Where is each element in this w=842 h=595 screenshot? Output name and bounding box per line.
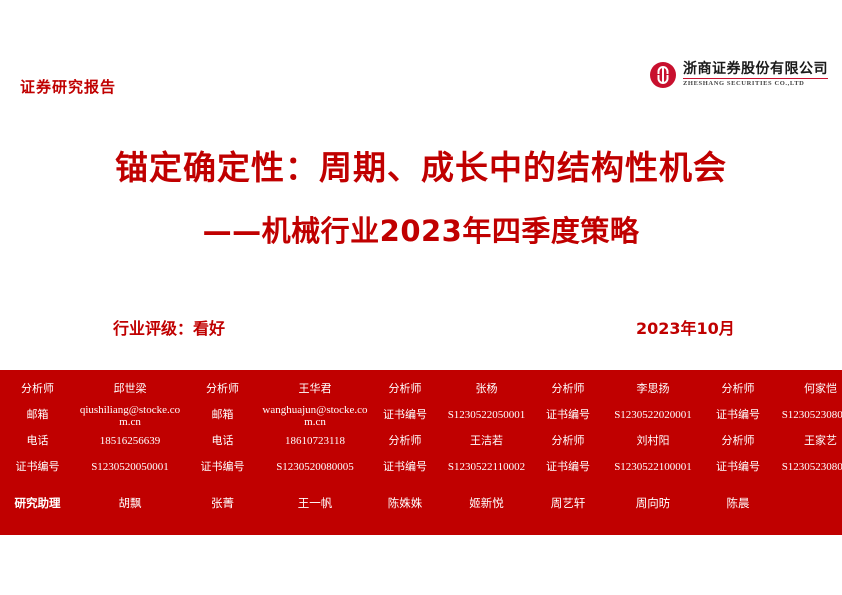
analyst-field-label: 分析师: [703, 428, 773, 454]
analyst-field-label: 证书编号: [703, 402, 773, 428]
analyst-field-value: S1230522100001: [603, 454, 703, 480]
analyst-field-label: 证书编号: [370, 454, 440, 480]
analyst-field-label: 证书编号: [185, 454, 260, 480]
analyst-field-value: 18516256639: [75, 428, 185, 454]
analyst-field-value: S1230522110002: [440, 454, 533, 480]
brand-name-en: ZHESHANG SECURITIES CO.,LTD: [683, 81, 828, 88]
analyst-field-label: 证书编号: [370, 402, 440, 428]
assistants-row-filler: [773, 492, 842, 516]
research-assistant-name: 胡飘: [75, 492, 185, 516]
analyst-field-value: S1230522050001: [440, 402, 533, 428]
industry-rating: 行业评级：看好: [113, 315, 225, 339]
analyst-field-value: 邱世梁: [75, 376, 185, 402]
analyst-field-label: 证书编号: [703, 454, 773, 480]
analyst-field-label: 分析师: [533, 376, 603, 402]
analyst-field-label: 电话: [0, 428, 75, 454]
analyst-field-value: 李思扬: [603, 376, 703, 402]
analyst-field-value: 王洁若: [440, 428, 533, 454]
analyst-field-value: 王家艺: [773, 428, 842, 454]
page-subtitle: ——机械行业2023年四季度策略: [0, 208, 842, 250]
analyst-field-label: 分析师: [703, 376, 773, 402]
analyst-field-value: S1230523080007: [773, 402, 842, 428]
research-assistant-name: 周向昉: [603, 492, 703, 516]
research-assistant-name: 陈晨: [703, 492, 773, 516]
analyst-field-label: 电话: [185, 428, 260, 454]
analyst-field-label: 邮箱: [185, 402, 260, 428]
analyst-field-label: 证书编号: [533, 454, 603, 480]
analyst-field-label: 分析师: [370, 428, 440, 454]
analyst-field-label: 分析师: [185, 376, 260, 402]
report-kicker: 证券研究报告: [20, 76, 116, 97]
analyst-grid: 分析师邱世梁分析师王华君分析师张杨分析师李思扬分析师何家恺邮箱qiushilia…: [0, 376, 842, 480]
analyst-field-value: wanghuajun@stocke.com.cn: [260, 402, 370, 428]
zheshang-logo-icon: [650, 62, 676, 88]
brand-name-cn: 浙商证券股份有限公司: [683, 62, 828, 79]
company-logo: 浙商证券股份有限公司 ZHESHANG SECURITIES CO.,LTD: [650, 62, 828, 88]
analyst-field-label: 分析师: [533, 428, 603, 454]
analyst-field-value: qiushiliang@stocke.com.cn: [75, 402, 185, 428]
analyst-field-label: 证书编号: [533, 402, 603, 428]
research-assistants-label: 研究助理: [0, 492, 75, 516]
brand-text: 浙商证券股份有限公司 ZHESHANG SECURITIES CO.,LTD: [683, 62, 828, 88]
analyst-field-label: 分析师: [370, 376, 440, 402]
analyst-contact-block: 分析师邱世梁分析师王华君分析师张杨分析师李思扬分析师何家恺邮箱qiushilia…: [0, 370, 842, 535]
research-assistant-name: 王一帆: [260, 492, 370, 516]
research-assistant-name: 周艺轩: [533, 492, 603, 516]
research-assistant-name: 陈姝姝: [370, 492, 440, 516]
analyst-field-value: S1230520080005: [260, 454, 370, 480]
analyst-field-value: S1230522020001: [603, 402, 703, 428]
analyst-field-value: 18610723118: [260, 428, 370, 454]
analyst-field-value: 张杨: [440, 376, 533, 402]
analyst-field-value: S1230523080015: [773, 454, 842, 480]
analyst-field-label: 证书编号: [0, 454, 75, 480]
analyst-field-label: 邮箱: [0, 402, 75, 428]
analyst-field-value: S1230520050001: [75, 454, 185, 480]
research-assistants-row: 研究助理胡飘张菁王一帆陈姝姝姬新悦周艺轩周向昉陈晨: [0, 492, 842, 516]
analyst-field-label: 分析师: [0, 376, 75, 402]
analyst-field-value: 刘村阳: [603, 428, 703, 454]
slide-page: 证券研究报告 浙商证券股份有限公司 ZHESHANG SECURITIES CO…: [0, 0, 842, 595]
research-assistant-name: 姬新悦: [440, 492, 533, 516]
publish-date: 2023年10月: [636, 315, 735, 339]
page-title: 锚定确定性：周期、成长中的结构性机会: [0, 141, 842, 189]
research-assistant-name: 张菁: [185, 492, 260, 516]
analyst-field-value: 王华君: [260, 376, 370, 402]
analyst-field-value: 何家恺: [773, 376, 842, 402]
